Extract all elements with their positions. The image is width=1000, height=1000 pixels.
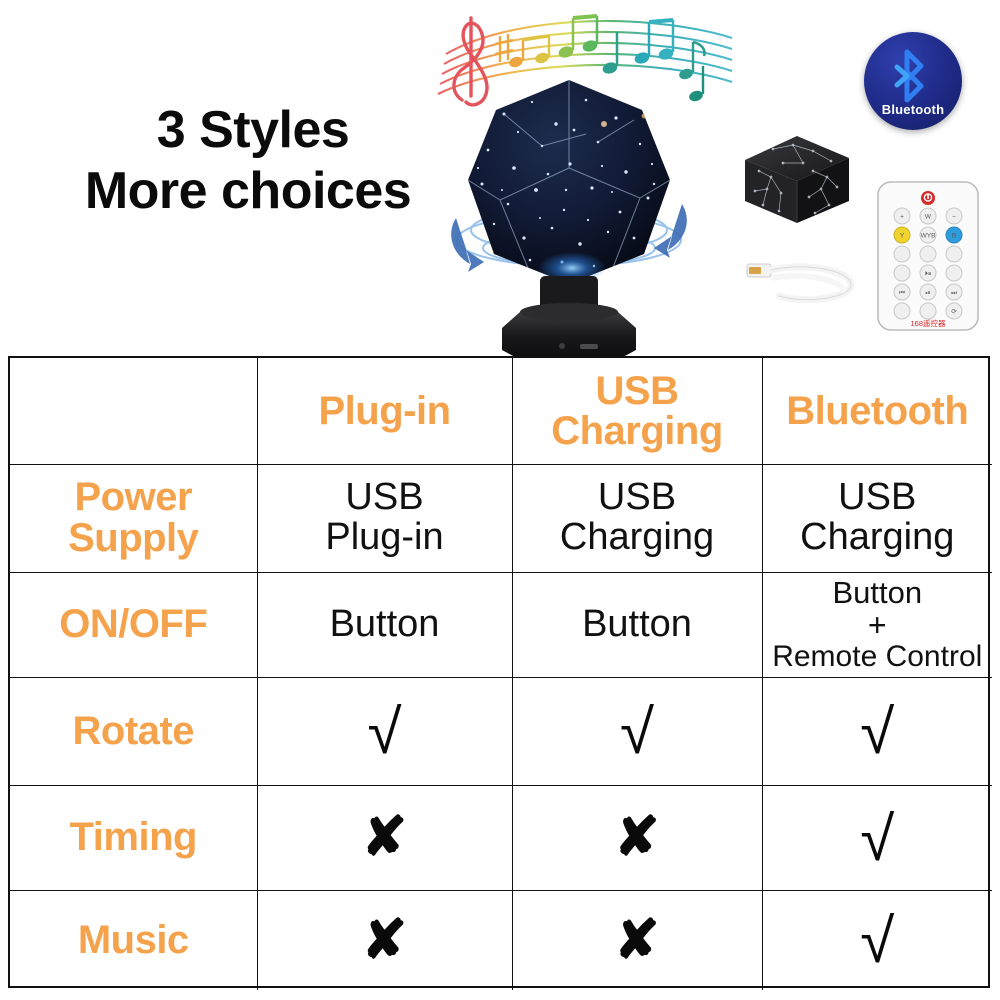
star-projector-lamp-image xyxy=(444,72,694,356)
cell-rotate-usb-charging: √ xyxy=(512,677,762,785)
svg-text:⏮: ⏮ xyxy=(899,289,905,296)
comparison-table: Plug-in USB Charging Bluetooth Power Sup… xyxy=(10,358,992,990)
svg-text:⏭: ⏭ xyxy=(951,289,957,296)
svg-text:⏯: ⏯ xyxy=(925,289,930,296)
bluetooth-badge: Bluetooth xyxy=(864,32,962,130)
svg-text:−: − xyxy=(952,213,956,220)
check-icon: √ xyxy=(860,914,894,970)
bluetooth-icon xyxy=(891,48,935,104)
svg-text:⟳: ⟳ xyxy=(951,308,957,315)
check-icon: √ xyxy=(860,812,894,868)
cell-timing-bluetooth: √ xyxy=(762,785,992,890)
cell-power-supply-usb-charging: USB Charging xyxy=(512,464,762,572)
cell-on-off-plug-in: Button xyxy=(257,572,512,677)
svg-text:Y: Y xyxy=(900,232,905,239)
svg-text:WYB: WYB xyxy=(921,232,936,239)
remote-control-image: +W− YWYBB ⏵⏸ ⏮⏯⏭ ⟳ 168遥控器 xyxy=(876,180,980,332)
svg-text:B: B xyxy=(952,232,956,239)
svg-text:+: + xyxy=(900,213,904,220)
column-header-usb-charging: USB Charging xyxy=(512,358,762,464)
table-row: ON/OFF Button Button Button + Remote Con… xyxy=(10,572,992,677)
usb-cable-image xyxy=(745,248,865,310)
column-header-bluetooth: Bluetooth xyxy=(762,358,992,464)
cell-power-supply-bluetooth: USB Charging xyxy=(762,464,992,572)
row-header-on-off: ON/OFF xyxy=(10,572,257,677)
cross-icon: ✘ xyxy=(614,916,659,965)
cell-music-plug-in: ✘ xyxy=(257,890,512,990)
row-header-power-supply: Power Supply xyxy=(10,464,257,572)
comparison-table-container: Plug-in USB Charging Bluetooth Power Sup… xyxy=(8,356,990,988)
column-header-plug-in: Plug-in xyxy=(257,358,512,464)
cell-music-usb-charging: ✘ xyxy=(512,890,762,990)
headline-line-1: 3 Styles xyxy=(38,100,458,161)
check-icon: √ xyxy=(367,705,401,761)
page-title: 3 Styles More choices xyxy=(38,100,458,223)
table-corner-cell xyxy=(10,358,257,464)
cell-on-off-usb-charging: Button xyxy=(512,572,762,677)
table-row: Rotate √ √ √ xyxy=(10,677,992,785)
svg-text:⏵⏸: ⏵⏸ xyxy=(925,270,932,277)
cross-icon: ✘ xyxy=(614,813,659,862)
svg-text:W: W xyxy=(925,213,932,220)
headline-line-2: More choices xyxy=(38,161,458,222)
cell-timing-plug-in: ✘ xyxy=(257,785,512,890)
check-icon: √ xyxy=(620,705,654,761)
check-icon: √ xyxy=(860,705,894,761)
bluetooth-badge-label: Bluetooth xyxy=(864,102,962,117)
table-header-row: Plug-in USB Charging Bluetooth xyxy=(10,358,992,464)
row-header-timing: Timing xyxy=(10,785,257,890)
table-row: Timing ✘ ✘ √ xyxy=(10,785,992,890)
product-comparison-infographic: 3 Styles More choices xyxy=(0,0,1000,1000)
hero-section: 3 Styles More choices xyxy=(0,0,1000,356)
gift-box-image xyxy=(737,131,855,227)
svg-text:168遥控器: 168遥控器 xyxy=(910,318,946,328)
cell-power-supply-plug-in: USB Plug-in xyxy=(257,464,512,572)
cell-on-off-bluetooth: Button + Remote Control xyxy=(762,572,992,677)
table-row: Power Supply USB Plug-in USB Charging US… xyxy=(10,464,992,572)
row-header-rotate: Rotate xyxy=(10,677,257,785)
table-row: Music ✘ ✘ √ xyxy=(10,890,992,990)
cross-icon: ✘ xyxy=(362,916,407,965)
cell-rotate-plug-in: √ xyxy=(257,677,512,785)
cell-rotate-bluetooth: √ xyxy=(762,677,992,785)
row-header-music: Music xyxy=(10,890,257,990)
cell-timing-usb-charging: ✘ xyxy=(512,785,762,890)
cross-icon: ✘ xyxy=(362,813,407,862)
cell-music-bluetooth: √ xyxy=(762,890,992,990)
